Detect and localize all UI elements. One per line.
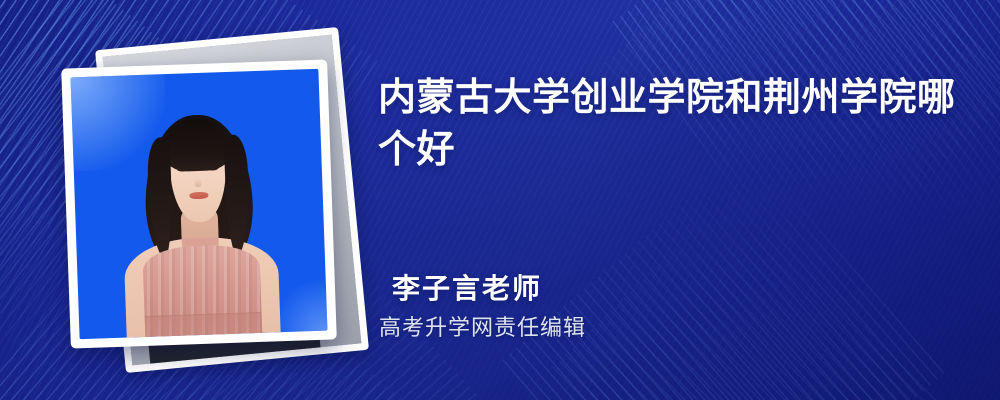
author-byline: 李子言老师 高考升学网责任编辑 [392, 272, 586, 341]
portrait-dress [142, 244, 262, 337]
article-headline: 内蒙古大学创业学院和荆州学院哪个好 [378, 72, 968, 176]
article-cover-banner: 内蒙古大学创业学院和荆州学院哪个好 李子言老师 高考升学网责任编辑 [0, 0, 1000, 400]
author-name: 李子言老师 [392, 272, 586, 306]
author-role: 高考升学网责任编辑 [379, 315, 586, 341]
author-portrait-photo [71, 69, 328, 339]
portrait-lips [189, 192, 208, 199]
portrait-figure [71, 69, 328, 339]
photo-card-front [61, 59, 337, 348]
author-photo-stack [58, 30, 358, 375]
portrait-dress-waistband [145, 312, 262, 337]
